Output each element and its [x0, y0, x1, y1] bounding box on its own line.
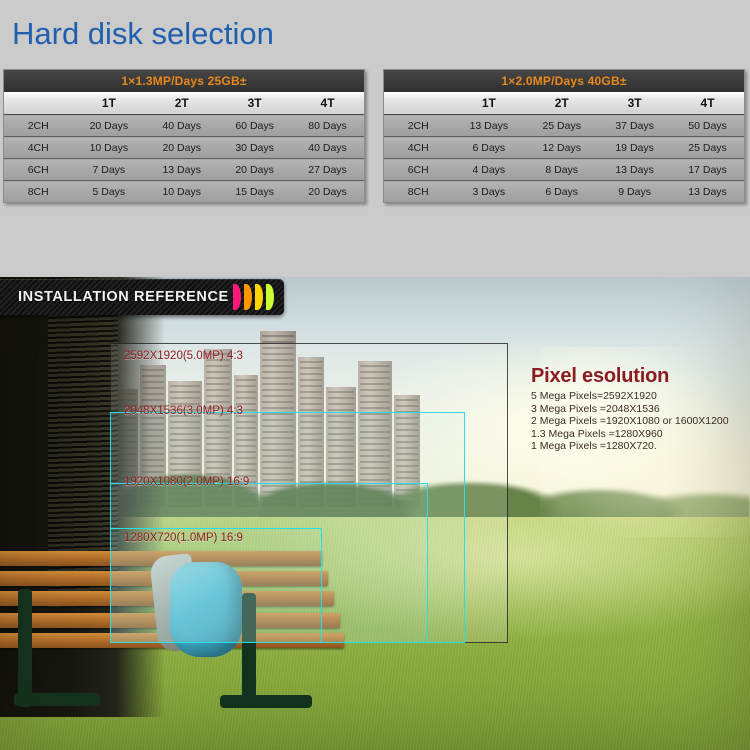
cell-days: 5 Days	[72, 181, 145, 203]
cell-days: 25 Days	[671, 137, 744, 159]
cell-days: 40 Days	[145, 115, 218, 137]
banner-label: INSTALLATION REFERENCE	[18, 289, 229, 305]
flame-stripes	[233, 284, 274, 310]
cell-days: 20 Days	[145, 137, 218, 159]
cell-channel: 4CH	[384, 137, 452, 159]
column-header-2t: 2T	[525, 92, 598, 115]
cell-channel: 2CH	[4, 115, 72, 137]
cell-days: 30 Days	[218, 137, 291, 159]
table-caption: 1×1.3MP/Days 25GB±	[4, 70, 364, 92]
column-header-1t: 1T	[72, 92, 145, 115]
cell-days: 13 Days	[598, 159, 671, 181]
frame-label-5mp: 2592X1920(5.0MP) 4:3	[124, 350, 243, 362]
flame-icon-yellow	[255, 284, 263, 310]
disk-capacity-table-1.3mp: 1×1.3MP/Days 25GB± 1T 2T 3T 4T 2CH 20 Da…	[3, 69, 365, 203]
cell-days: 6 Days	[525, 181, 598, 203]
table-row: 8CH 3 Days 6 Days 9 Days 13 Days	[384, 181, 744, 203]
cell-days: 25 Days	[525, 115, 598, 137]
flame-icon-lime	[266, 284, 274, 310]
column-header-4t: 4T	[291, 92, 364, 115]
cell-channel: 6CH	[4, 159, 72, 181]
table-row: 4CH 6 Days 12 Days 19 Days 25 Days	[384, 137, 744, 159]
table-header-row: 1T 2T 3T 4T	[384, 92, 744, 115]
cell-days: 37 Days	[598, 115, 671, 137]
frame-label-2mp: 1920X1080(2.0MP) 16:9	[124, 476, 249, 488]
table-row: 2CH 20 Days 40 Days 60 Days 80 Days	[4, 115, 364, 137]
cell-channel: 6CH	[384, 159, 452, 181]
cell-days: 10 Days	[145, 181, 218, 203]
column-header-3t: 3T	[598, 92, 671, 115]
cell-days: 13 Days	[145, 159, 218, 181]
product-info-page: Hard disk selection 1×1.3MP/Days 25GB± 1…	[0, 0, 750, 750]
disk-capacity-table-2.0mp: 1×2.0MP/Days 40GB± 1T 2T 3T 4T 2CH 13 Da…	[383, 69, 745, 203]
cell-days: 6 Days	[452, 137, 525, 159]
table-grid: 1T 2T 3T 4T 2CH 20 Days 40 Days 60 Days …	[4, 92, 364, 202]
table-row: 6CH 4 Days 8 Days 13 Days 17 Days	[384, 159, 744, 181]
cell-days: 12 Days	[525, 137, 598, 159]
pixel-resolution-line: 1 Mega Pixels =1280X720.	[531, 440, 746, 453]
pixel-resolution-line: 2 Mega Pixels =1920X1080 or 1600X1200	[531, 415, 746, 428]
cell-days: 80 Days	[291, 115, 364, 137]
frame-1mp	[110, 528, 322, 643]
pixel-resolution-line: 3 Mega Pixels =2048X1536	[531, 403, 746, 416]
cell-days: 50 Days	[671, 115, 744, 137]
table-header-row: 1T 2T 3T 4T	[4, 92, 364, 115]
cell-days: 8 Days	[525, 159, 598, 181]
cell-days: 19 Days	[598, 137, 671, 159]
column-header-4t: 4T	[671, 92, 744, 115]
table-caption: 1×2.0MP/Days 40GB±	[384, 70, 744, 92]
cell-channel: 4CH	[4, 137, 72, 159]
pixel-resolution-line: 5 Mega Pixels=2592X1920	[531, 390, 746, 403]
frame-label-3mp: 2048X1536(3.0MP) 4:3	[124, 405, 243, 417]
column-header-channel	[384, 92, 452, 115]
installation-reference-banner: INSTALLATION REFERENCE	[0, 279, 284, 315]
cell-days: 13 Days	[452, 115, 525, 137]
page-title: Hard disk selection	[12, 16, 274, 52]
table-row: 4CH 10 Days 20 Days 30 Days 40 Days	[4, 137, 364, 159]
flame-icon-magenta	[233, 284, 241, 310]
cell-days: 13 Days	[671, 181, 744, 203]
cell-days: 20 Days	[291, 181, 364, 203]
cell-days: 20 Days	[218, 159, 291, 181]
table-row: 2CH 13 Days 25 Days 37 Days 50 Days	[384, 115, 744, 137]
cell-channel: 2CH	[384, 115, 452, 137]
hard-disk-selection-section: Hard disk selection 1×1.3MP/Days 25GB± 1…	[0, 0, 750, 277]
table-row: 6CH 7 Days 13 Days 20 Days 27 Days	[4, 159, 364, 181]
resolution-frames-overlay: 2592X1920(5.0MP) 4:3 2048X1536(3.0MP) 4:…	[110, 343, 508, 643]
cell-days: 9 Days	[598, 181, 671, 203]
pixel-resolution-line: 1.3 Mega Pixels =1280X960	[531, 428, 746, 441]
cell-days: 40 Days	[291, 137, 364, 159]
flame-icon-orange	[244, 284, 252, 310]
cell-days: 4 Days	[452, 159, 525, 181]
column-header-channel	[4, 92, 72, 115]
table-row: 8CH 5 Days 10 Days 15 Days 20 Days	[4, 181, 364, 203]
pixel-resolution-title: Pixel esolution	[531, 365, 746, 388]
cell-days: 15 Days	[218, 181, 291, 203]
cell-channel: 8CH	[4, 181, 72, 203]
cell-days: 20 Days	[72, 115, 145, 137]
frame-label-1mp: 1280X720(1.0MP) 16:9	[124, 532, 243, 544]
cell-days: 17 Days	[671, 159, 744, 181]
cell-days: 60 Days	[218, 115, 291, 137]
pixel-resolution-block: Pixel esolution 5 Mega Pixels=2592X1920 …	[531, 365, 746, 453]
column-header-3t: 3T	[218, 92, 291, 115]
table-grid: 1T 2T 3T 4T 2CH 13 Days 25 Days 37 Days …	[384, 92, 744, 202]
column-header-1t: 1T	[452, 92, 525, 115]
cell-days: 27 Days	[291, 159, 364, 181]
cell-days: 3 Days	[452, 181, 525, 203]
cell-days: 10 Days	[72, 137, 145, 159]
cell-channel: 8CH	[384, 181, 452, 203]
cell-days: 7 Days	[72, 159, 145, 181]
column-header-2t: 2T	[145, 92, 218, 115]
